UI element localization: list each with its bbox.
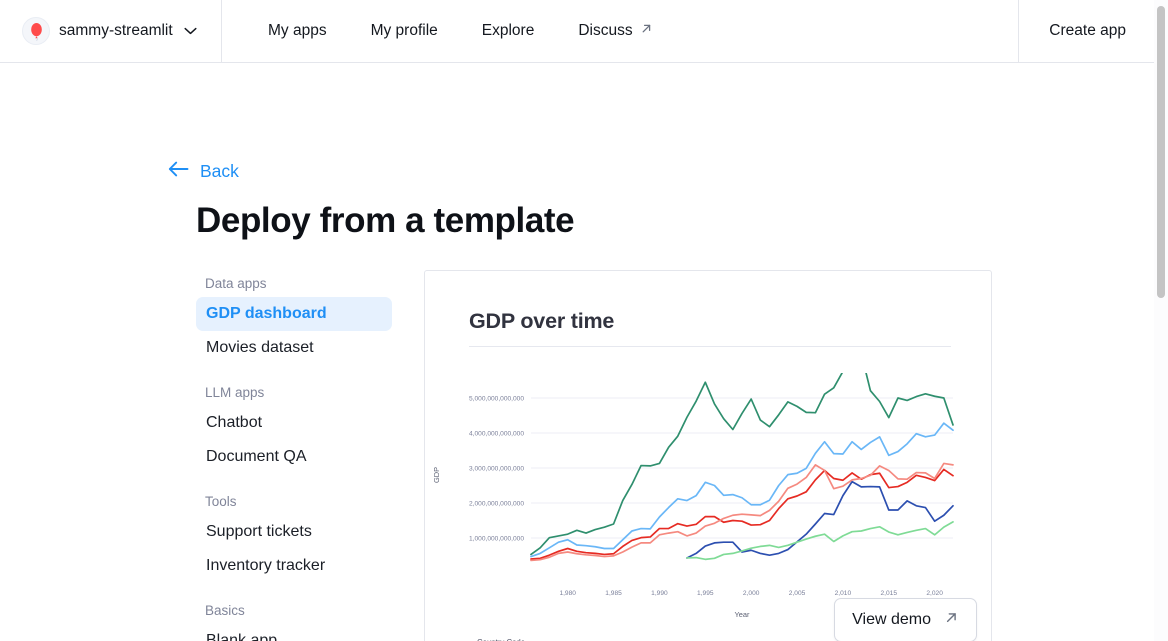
plot-top-mask xyxy=(425,351,991,373)
chart-title: GDP over time xyxy=(469,309,991,334)
x-tick-label: 1,995 xyxy=(697,590,714,597)
y-tick-label: 4,000,000,000,000 xyxy=(469,430,524,437)
external-link-icon xyxy=(640,22,653,40)
nav-label: My apps xyxy=(268,22,327,40)
template-browser: Data appsGDP dashboardMovies datasetLLM … xyxy=(196,270,1168,641)
y-tick-label: 2,000,000,000,000 xyxy=(469,500,524,507)
y-tick-label: 1,000,000,000,000 xyxy=(469,535,524,542)
y-tick-label: 3,000,000,000,000 xyxy=(469,465,524,472)
chevron-down-icon xyxy=(184,27,197,35)
back-link[interactable]: Back xyxy=(168,63,239,182)
sidebar-item-support-tickets[interactable]: Support tickets xyxy=(196,515,392,549)
x-tick-label: 2,010 xyxy=(835,590,852,597)
account-switcher[interactable]: sammy-streamlit xyxy=(0,0,222,62)
sidebar-item-gdp-dashboard[interactable]: GDP dashboard xyxy=(196,297,392,331)
x-tick-label: 1,985 xyxy=(605,590,622,597)
sidebar-group-label: Tools xyxy=(205,494,392,509)
sidebar-group-label: Data apps xyxy=(205,276,392,291)
sidebar-item-blank-app[interactable]: Blank app xyxy=(196,624,392,641)
view-demo-label: View demo xyxy=(852,611,931,629)
sidebar-group: BasicsBlank app xyxy=(196,603,392,641)
page-body: Back Deploy from a template Data appsGDP… xyxy=(0,63,1168,641)
arrow-left-icon xyxy=(168,161,189,182)
back-label: Back xyxy=(200,161,239,182)
nav-item-discuss[interactable]: Discuss xyxy=(556,0,674,62)
create-app-label: Create app xyxy=(1049,22,1126,40)
main-nav: My apps My profile Explore Discuss xyxy=(222,0,1018,62)
sidebar-item-chatbot[interactable]: Chatbot xyxy=(196,406,392,440)
series-line-jpn xyxy=(531,353,953,554)
template-sidebar: Data appsGDP dashboardMovies datasetLLM … xyxy=(196,270,392,641)
series-line-deu xyxy=(531,423,953,556)
x-tick-label: 1,980 xyxy=(559,590,576,597)
sidebar-group-label: LLM apps xyxy=(205,385,392,400)
template-preview-card: GDP over time 1,000,000,000,0002,000,000… xyxy=(424,270,992,641)
sidebar-item-movies-dataset[interactable]: Movies dataset xyxy=(196,331,392,365)
x-tick-label: 1,990 xyxy=(651,590,668,597)
sidebar-item-document-qa[interactable]: Document QA xyxy=(196,440,392,474)
series-line-mex xyxy=(687,521,953,558)
legend-title: Country Code xyxy=(477,638,525,641)
x-tick-label: 2,015 xyxy=(881,590,898,597)
sidebar-group: Data appsGDP dashboardMovies dataset xyxy=(196,276,392,365)
account-name: sammy-streamlit xyxy=(59,22,173,40)
page-title: Deploy from a template xyxy=(196,202,1168,241)
view-demo-button[interactable]: View demo xyxy=(834,598,977,641)
nav-label: Explore xyxy=(482,22,535,40)
external-link-icon xyxy=(944,610,959,630)
chart-title-divider xyxy=(469,346,951,347)
x-tick-label: 2,005 xyxy=(789,590,806,597)
top-header: sammy-streamlit My apps My profile Explo… xyxy=(0,0,1168,63)
nav-label: My profile xyxy=(371,22,438,40)
sidebar-group: ToolsSupport ticketsInventory tracker xyxy=(196,494,392,583)
y-tick-label: 5,000,000,000,000 xyxy=(469,395,524,402)
balloon-icon xyxy=(22,17,50,45)
page-scrollbar-thumb[interactable] xyxy=(1157,6,1165,298)
x-tick-label: 2,000 xyxy=(743,590,760,597)
sidebar-item-inventory-tracker[interactable]: Inventory tracker xyxy=(196,549,392,583)
page-scrollbar-track[interactable] xyxy=(1154,0,1168,641)
nav-item-explore[interactable]: Explore xyxy=(460,0,557,62)
y-axis-title: GDP xyxy=(432,466,441,482)
sidebar-group-label: Basics xyxy=(205,603,392,618)
nav-item-my-apps[interactable]: My apps xyxy=(246,0,349,62)
nav-item-my-profile[interactable]: My profile xyxy=(349,0,460,62)
x-tick-label: 2,020 xyxy=(926,590,943,597)
x-axis-title: Year xyxy=(735,610,750,619)
sidebar-group: LLM appsChatbotDocument QA xyxy=(196,385,392,474)
series-line-bra xyxy=(687,481,953,557)
create-app-button[interactable]: Create app xyxy=(1018,0,1156,62)
nav-label: Discuss xyxy=(578,22,632,40)
